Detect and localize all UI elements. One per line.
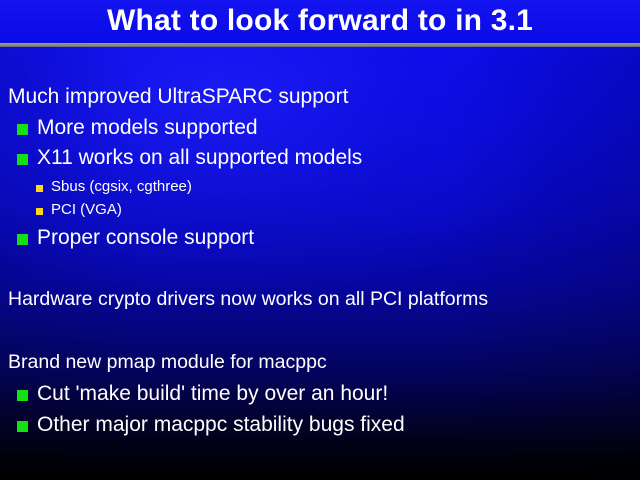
bullet-text: Hardware crypto drivers now works on all… — [8, 287, 488, 312]
presentation-slide: What to look forward to in 3.1 Much impr… — [0, 0, 640, 480]
bullet-text: Much improved UltraSPARC support — [8, 84, 348, 110]
bullet-line: More models supported — [17, 115, 258, 141]
green-square-bullet-icon — [17, 390, 28, 401]
bullet-text: PCI (VGA) — [51, 200, 122, 220]
bullet-line: Brand new pmap module for macppc — [8, 350, 327, 375]
bullet-text: X11 works on all supported models — [37, 145, 362, 171]
yellow-square-bullet-icon — [36, 185, 43, 192]
bullet-line: Sbus (cgsix, cgthree) — [36, 177, 192, 197]
bullet-line: Other major macppc stability bugs fixed — [17, 412, 405, 438]
bullet-text: More models supported — [37, 115, 258, 141]
yellow-square-bullet-icon — [36, 208, 43, 215]
bullet-text: Other major macppc stability bugs fixed — [37, 412, 405, 438]
bullet-text: Cut 'make build' time by over an hour! — [37, 381, 388, 407]
bullet-text: Sbus (cgsix, cgthree) — [51, 177, 192, 197]
bullet-line: Proper console support — [17, 225, 254, 251]
bullet-line: Cut 'make build' time by over an hour! — [17, 381, 388, 407]
bullet-line: PCI (VGA) — [36, 200, 122, 220]
bullet-line: Hardware crypto drivers now works on all… — [8, 287, 488, 312]
title-divider-rule — [0, 43, 640, 47]
slide-title-band: What to look forward to in 3.1 — [0, 0, 640, 43]
bullet-line: X11 works on all supported models — [17, 145, 362, 171]
bullet-text: Brand new pmap module for macppc — [8, 350, 327, 375]
bullet-text: Proper console support — [37, 225, 254, 251]
bullet-line: Much improved UltraSPARC support — [8, 84, 348, 110]
green-square-bullet-icon — [17, 421, 28, 432]
slide-body: Much improved UltraSPARC supportMore mod… — [0, 49, 640, 480]
green-square-bullet-icon — [17, 124, 28, 135]
green-square-bullet-icon — [17, 154, 28, 165]
green-square-bullet-icon — [17, 234, 28, 245]
slide-title: What to look forward to in 3.1 — [0, 2, 640, 40]
